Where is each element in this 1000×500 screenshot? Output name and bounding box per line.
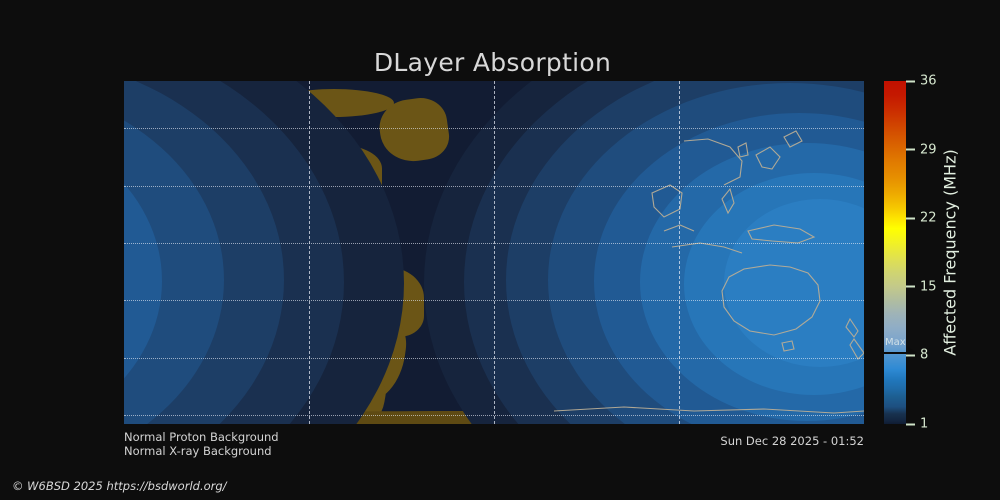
tick-dash-icon: [906, 80, 915, 82]
colorbar-tick: 36: [906, 75, 937, 88]
parallel-minus60: [124, 358, 864, 359]
tick-dash-icon: [906, 423, 915, 425]
meridian-minus90: [309, 81, 310, 424]
colorbar: [884, 81, 906, 424]
colorbar-tick: 1: [906, 418, 928, 431]
tick-label: 15: [920, 280, 937, 293]
parallel-minus30: [124, 300, 864, 301]
meridian-0: [494, 81, 495, 424]
proton-status: Normal Proton Background: [124, 430, 279, 444]
colorbar-axis-label-text: Affected Frequency (MHz): [941, 149, 960, 355]
colorbar-tick: 15: [906, 280, 937, 293]
tick-dash-icon: [906, 217, 915, 219]
parallel-minus75: [124, 415, 864, 416]
parallel-30: [124, 186, 864, 187]
parallel-0: [124, 243, 864, 244]
tick-dash-icon: [906, 149, 915, 151]
page-title: DLayer Absorption: [0, 48, 985, 77]
tick-label: 36: [920, 75, 937, 88]
parallel-60: [124, 128, 864, 129]
colorbar-tick: 8: [906, 349, 928, 362]
tick-dash-icon: [906, 354, 915, 356]
xray-status: Normal X-ray Background: [124, 444, 272, 458]
colorbar-axis-label: Affected Frequency (MHz): [938, 81, 962, 424]
world-map[interactable]: [124, 81, 864, 424]
colorbar-tick: 22: [906, 212, 937, 225]
max-label: Max: [885, 337, 906, 348]
colorbar-gradient: [884, 81, 906, 424]
timestamp: Sun Dec 28 2025 - 01:52: [720, 434, 864, 448]
colorbar-tick: 29: [906, 143, 937, 156]
tick-label: 22: [920, 212, 937, 225]
tick-label: 1: [920, 418, 928, 431]
tick-dash-icon: [906, 286, 915, 288]
dlayer-absorption-figure: DLayer Absorption: [0, 0, 1000, 500]
tick-label: 29: [920, 143, 937, 156]
credit-text: © W6BSD 2025 https://bsdworld.org/: [12, 479, 227, 493]
tick-label: 8: [920, 349, 928, 362]
meridian-90: [679, 81, 680, 424]
